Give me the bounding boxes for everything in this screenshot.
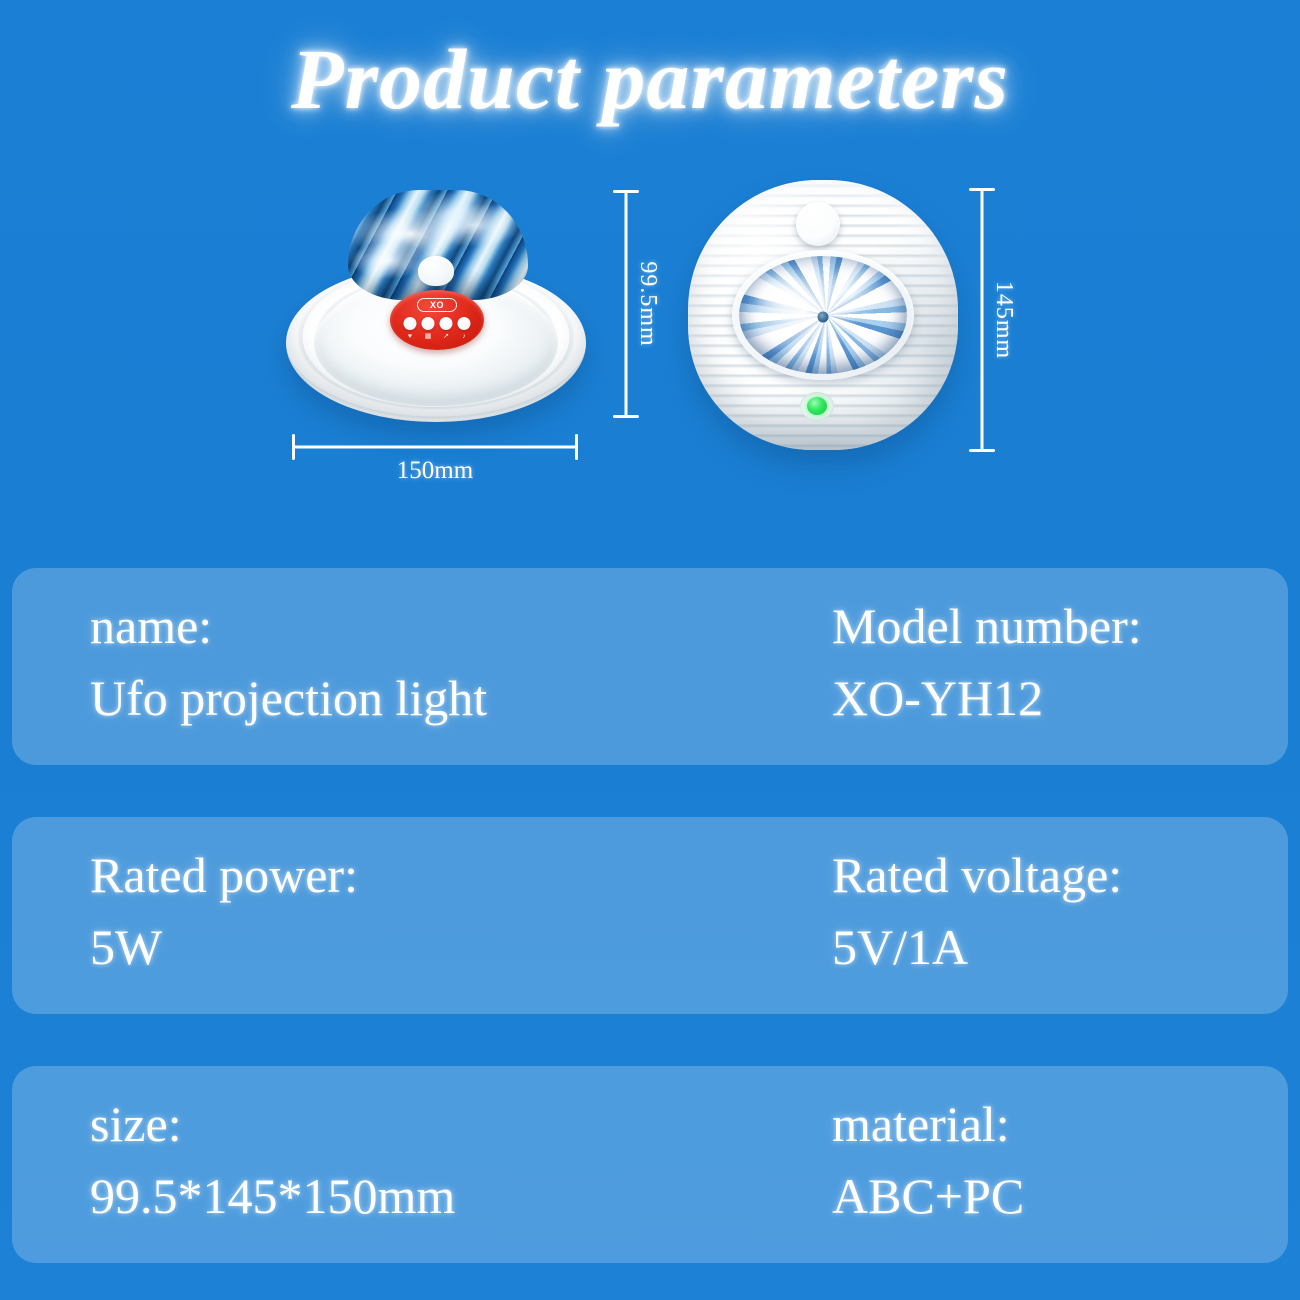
spec-value: ABC+PC [832,1164,1288,1228]
spec-value: XO-YH12 [832,666,1288,730]
spec-cell-material: material: ABC+PC [822,1066,1288,1263]
dimension-cap-left [292,434,295,460]
green-led-indicator-icon [807,397,827,415]
spec-cell-size: size: 99.5*145*150mm [12,1066,822,1263]
dimension-cap-top [969,188,995,191]
spec-label: Rated power: [90,843,822,907]
dimension-label-width: 150mm [397,457,473,485]
lens-frame [732,250,914,380]
heart-icon: ♥ [404,333,417,340]
top-power-button-icon [796,202,840,246]
side-button-icon [418,256,454,286]
dimension-line [292,446,578,449]
dimension-line [981,188,984,452]
spec-cards-container: name: Ufo projection light Model number:… [12,568,1288,1300]
spec-cell-rated-voltage: Rated voltage: 5V/1A [822,817,1288,1014]
dimension-label-height: 145mm [990,281,1017,359]
spec-cell-rated-power: Rated power: 5W [12,817,822,1014]
spec-value: Ufo projection light [90,666,822,730]
dimension-cap-bottom [969,449,995,452]
red-control-panel: XO ♥ ▦ ↗ ♪ [390,290,484,350]
spec-label: material: [832,1092,1288,1156]
spec-label: name: [90,594,822,658]
spec-value: 5W [90,915,822,979]
control-button-3-icon [440,317,453,330]
control-button-2-icon [422,317,435,330]
led-frame [800,392,834,420]
spec-label: Model number: [832,594,1288,658]
spec-card-size-material: size: 99.5*145*150mm material: ABC+PC [12,1066,1288,1263]
dimension-cap-right [575,434,578,460]
control-buttons-row [404,317,471,330]
grid-icon: ▦ [422,333,435,340]
dimension-label-height: 99.5mm [634,261,661,346]
spec-value: 5V/1A [832,915,1288,979]
dimension-height-99-5: 99.5mm [606,190,646,418]
dimension-cap-top [613,190,639,193]
dimension-cap-bottom [613,415,639,418]
product-illustrations: XO ♥ ▦ ↗ ♪ 99.5mm [0,160,1300,520]
projector-lens-icon [739,256,907,374]
control-button-4-icon [458,317,471,330]
control-button-1-icon [404,317,417,330]
left-device-illustration: XO ♥ ▦ ↗ ♪ [286,190,586,420]
lens-center-point [818,312,829,323]
music-icon: ♪ [458,333,471,340]
xo-logo: XO [417,298,457,312]
spec-cell-name: name: Ufo projection light [12,568,822,765]
spec-label: Rated voltage: [832,843,1288,907]
spec-card-power-voltage: Rated power: 5W Rated voltage: 5V/1A [12,817,1288,1014]
page-title-container: Product parameters [0,34,1300,124]
dimension-height-145: 145mm [962,188,1002,452]
page-title: Product parameters [291,34,1009,124]
right-device-illustration [688,180,958,450]
beam-icon: ↗ [440,333,453,340]
spec-value: 99.5*145*150mm [90,1164,822,1228]
spec-label: size: [90,1092,822,1156]
control-icons-row: ♥ ▦ ↗ ♪ [404,333,471,340]
product-parameters-page: Product parameters XO ♥ ▦ [0,0,1300,1300]
spec-card-name-model: name: Ufo projection light Model number:… [12,568,1288,765]
spec-cell-model-number: Model number: XO-YH12 [822,568,1288,765]
dimension-line [625,190,628,418]
dimension-width-150: 150mm [292,432,578,462]
